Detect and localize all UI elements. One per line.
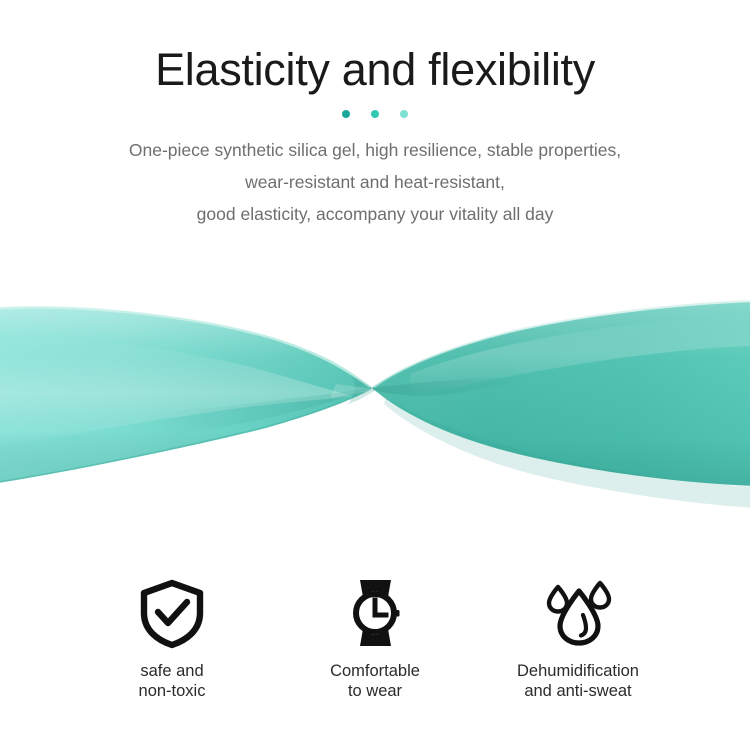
product-image bbox=[0, 262, 750, 530]
feature-caption-line-1: Dehumidification bbox=[478, 661, 678, 681]
subtitle-line-3: good elasticity, accompany your vitality… bbox=[65, 198, 685, 230]
feature-item-comfortable-to-wear: Comfortable to wear bbox=[275, 575, 475, 701]
subtitle-text: One-piece synthetic silica gel, high res… bbox=[65, 134, 685, 230]
subtitle-line-2: wear-resistant and heat-resistant, bbox=[65, 166, 685, 198]
water-droplets-icon bbox=[478, 575, 678, 651]
feature-list: safe and non-toxic bbox=[0, 575, 750, 701]
feature-caption: Comfortable to wear bbox=[275, 661, 475, 701]
shield-check-icon bbox=[72, 575, 272, 651]
dot-2 bbox=[371, 110, 379, 118]
feature-caption-line-1: safe and bbox=[72, 661, 272, 681]
band-left-segment bbox=[0, 306, 372, 484]
feature-caption-line-1: Comfortable bbox=[275, 661, 475, 681]
dot-3 bbox=[400, 110, 408, 118]
feature-caption: Dehumidification and anti-sweat bbox=[478, 661, 678, 701]
dot-separator bbox=[342, 110, 408, 118]
feature-caption-line-2: and anti-sweat bbox=[478, 681, 678, 701]
feature-caption-line-2: to wear bbox=[275, 681, 475, 701]
feature-item-safe-non-toxic: safe and non-toxic bbox=[72, 575, 272, 701]
page-title: Elasticity and flexibility bbox=[0, 0, 750, 96]
silicone-band-illustration bbox=[0, 262, 750, 530]
feature-caption: safe and non-toxic bbox=[72, 661, 272, 701]
dot-1 bbox=[342, 110, 350, 118]
band-right-segment bbox=[372, 301, 750, 508]
product-feature-page: Elasticity and flexibility One-piece syn… bbox=[0, 0, 750, 750]
feature-item-dehumidification: Dehumidification and anti-sweat bbox=[478, 575, 678, 701]
subtitle-line-1: One-piece synthetic silica gel, high res… bbox=[65, 134, 685, 166]
wristwatch-icon bbox=[275, 575, 475, 651]
feature-caption-line-2: non-toxic bbox=[72, 681, 272, 701]
header-block: Elasticity and flexibility One-piece syn… bbox=[0, 0, 750, 230]
